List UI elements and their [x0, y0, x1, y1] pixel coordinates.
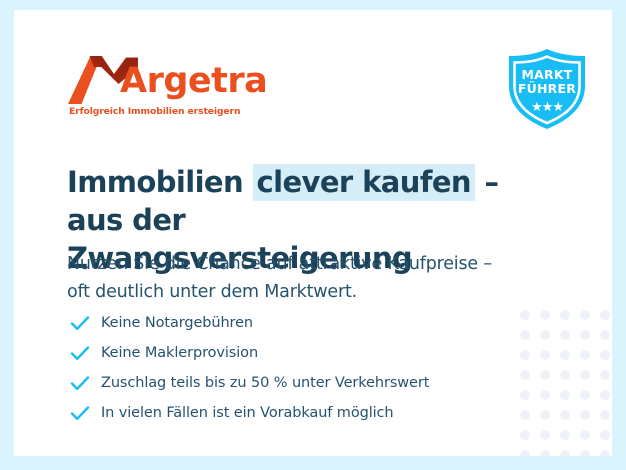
decorative-dot: [540, 350, 550, 360]
decorative-dot: [560, 330, 570, 340]
check-icon: [69, 312, 91, 334]
list-item-label: In vielen Fällen ist ein Vorabkauf mögli…: [101, 405, 394, 421]
decorative-dot: [560, 350, 570, 360]
decorative-dot: [520, 410, 530, 420]
list-item-label: Keine Maklerprovision: [101, 345, 258, 361]
decorative-dot: [520, 370, 530, 380]
decorative-dot: [580, 390, 590, 400]
decorative-dot: [600, 350, 610, 360]
decorative-dot: [580, 450, 590, 456]
decorative-dot: [520, 310, 530, 320]
check-icon: [69, 342, 91, 364]
check-icon: [69, 402, 91, 424]
decorative-dot: [600, 370, 610, 380]
headline-line1-pre: Immobilien: [67, 165, 253, 199]
decorative-dot: [540, 370, 550, 380]
decorative-dot: [540, 390, 550, 400]
decorative-dot: [580, 370, 590, 380]
benefit-list: Keine Notargebühren Keine Maklerprovisio…: [69, 308, 509, 428]
decorative-dot: [540, 310, 550, 320]
market-leader-badge: MARKT FÜHRER ★★★: [503, 48, 591, 130]
decorative-dot: [540, 410, 550, 420]
decorative-dot: [600, 390, 610, 400]
decorative-dot: [520, 330, 530, 340]
decorative-dot: [520, 350, 530, 360]
list-item-label: Zuschlag teils bis zu 50 % unter Verkehr…: [101, 375, 429, 391]
decorative-dot: [580, 350, 590, 360]
decorative-dot: [600, 310, 610, 320]
decorative-dot: [560, 370, 570, 380]
decorative-dot: [520, 390, 530, 400]
decorative-dot: [520, 430, 530, 440]
promo-card: Argetra Erfolgreich Immobilien ersteiger…: [14, 10, 612, 456]
decorative-dot: [600, 330, 610, 340]
logo-tagline: Erfolgreich Immobilien ersteigern: [69, 106, 240, 117]
decorative-dot: [560, 450, 570, 456]
argetra-logo[interactable]: Argetra Erfolgreich Immobilien ersteiger…: [68, 54, 268, 124]
decorative-dot: [520, 450, 530, 456]
decorative-dot: [580, 410, 590, 420]
list-item-label: Keine Notargebühren: [101, 315, 253, 331]
decorative-dot: [540, 330, 550, 340]
check-icon: [69, 372, 91, 394]
list-item: Zuschlag teils bis zu 50 % unter Verkehr…: [69, 368, 509, 398]
dot-grid-decoration: [520, 310, 612, 456]
subtitle-line2: oft deutlich unter dem Marktwert.: [67, 282, 357, 302]
decorative-dot: [560, 410, 570, 420]
decorative-dot: [560, 390, 570, 400]
promo-banner: Argetra Erfolgreich Immobilien ersteiger…: [0, 0, 626, 470]
logo-wordmark: Argetra: [120, 64, 267, 99]
decorative-dot: [560, 430, 570, 440]
headline-line1-post: –: [475, 165, 498, 199]
shield-badge-icon: [503, 48, 591, 130]
list-item: In vielen Fällen ist ein Vorabkauf mögli…: [69, 398, 509, 428]
headline-highlight: clever kaufen: [253, 164, 475, 201]
subtitle-line1: Nutzen Sie die Chance auf attraktive Kau…: [67, 254, 492, 274]
list-item: Keine Notargebühren: [69, 308, 509, 338]
list-item: Keine Maklerprovision: [69, 338, 509, 368]
decorative-dot: [580, 310, 590, 320]
decorative-dot: [600, 450, 610, 456]
page-subtitle: Nutzen Sie die Chance auf attraktive Kau…: [67, 250, 547, 306]
decorative-dot: [600, 430, 610, 440]
decorative-dot: [540, 430, 550, 440]
decorative-dot: [580, 330, 590, 340]
decorative-dot: [600, 410, 610, 420]
decorative-dot: [580, 430, 590, 440]
decorative-dot: [540, 450, 550, 456]
decorative-dot: [560, 310, 570, 320]
